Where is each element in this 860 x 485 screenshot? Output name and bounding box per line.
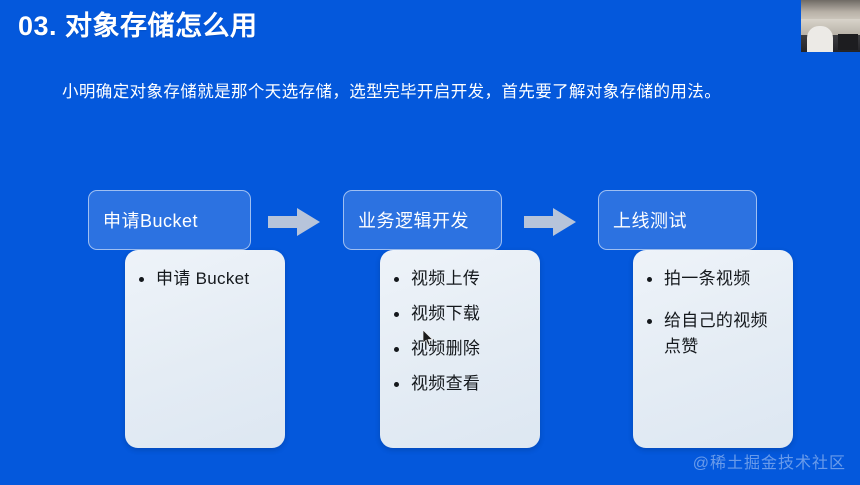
mouse-pointer-icon	[423, 330, 434, 346]
flow-step-3-header: 上线测试	[598, 190, 757, 250]
flow-step-3-list: 拍一条视频 给自己的视频点赞	[645, 266, 783, 360]
webcam-video-overlay	[801, 0, 860, 52]
slide-subtitle: 小明确定对象存储就是那个天选存储，选型完毕开启开发，首先要了解对象存储的用法。	[62, 78, 852, 102]
list-item: 申请 Bucket	[137, 266, 275, 292]
flow-step-2-list: 视频上传 视频下载 视频删除 视频查看	[392, 266, 530, 397]
flow-step-2-header: 业务逻辑开发	[343, 190, 502, 250]
arrow-right-icon	[268, 207, 320, 237]
webcam-ceiling	[801, 0, 860, 20]
flow-step-1-list: 申请 Bucket	[137, 266, 275, 292]
list-item: 给自己的视频点赞	[645, 308, 783, 360]
list-item: 视频查看	[392, 371, 530, 397]
flow-step-1-header: 申请Bucket	[88, 190, 251, 250]
list-item: 拍一条视频	[645, 266, 783, 292]
webcam-chair	[807, 26, 833, 52]
page-title: 03. 对象存储怎么用	[18, 4, 258, 43]
arrow-right-icon	[524, 207, 576, 237]
flow-step-3-body: 拍一条视频 给自己的视频点赞	[633, 250, 793, 448]
flow-step-2-body: 视频上传 视频下载 视频删除 视频查看	[380, 250, 540, 448]
list-item: 视频删除	[392, 336, 530, 362]
flow-step-1-body: 申请 Bucket	[125, 250, 285, 448]
watermark: @稀土掘金技术社区	[693, 449, 846, 473]
webcam-dark-object	[838, 34, 858, 50]
list-item: 视频上传	[392, 266, 530, 292]
presentation-slide: 03. 对象存储怎么用 小明确定对象存储就是那个天选存储，选型完毕开启开发，首先…	[0, 0, 860, 485]
list-item: 视频下载	[392, 301, 530, 327]
process-flow-diagram: 申请Bucket 申请 Bucket 业务逻辑开发 视频上传 视频下载 视频删除	[0, 185, 860, 460]
